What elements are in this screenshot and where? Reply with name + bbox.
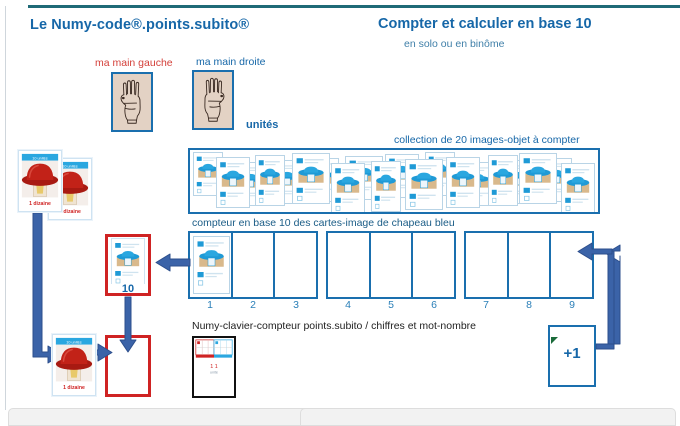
collection-label: collection de 20 images-objet à compter [394,134,580,146]
bottom-panel-right [300,408,676,426]
collection-item[interactable] [292,153,330,204]
svg-text:1 dizaine: 1 dizaine [29,201,51,207]
counter-number-2: 2 [250,299,256,311]
collection-item[interactable] [488,155,518,206]
collection-item[interactable] [331,163,365,214]
counter-label: compteur en base 10 des cartes-image de … [192,217,455,229]
collection-item[interactable] [405,159,443,210]
arrow-loop-stem [608,251,614,344]
counter-cell-8[interactable] [509,233,552,297]
counter-number-4: 4 [345,299,351,311]
dizaine-card[interactable]: 10 unités1 dizaine [52,334,96,396]
counter-number-1: 1 [207,299,213,311]
left-margin-line [5,6,6,410]
plus-one-label: +1 [548,345,596,362]
units-label: unités [246,119,278,131]
right-hand-card[interactable] [192,70,234,130]
blue-hat-card-icon [111,238,145,284]
blue-hat-card-icon [193,236,230,294]
counter-number-6: 6 [431,299,437,311]
arrow-loop-icon [596,245,620,349]
collection-item[interactable] [216,157,250,208]
green-corner-marker-icon [551,337,558,344]
svg-text:10 unités: 10 unités [32,156,48,160]
counter-number-9: 9 [569,299,575,311]
counter-row [188,231,578,299]
counter-group-1 [188,231,318,299]
empty-result-box[interactable] [105,335,151,397]
clavier-label: Numy-clavier-compteur points.subito / ch… [192,320,476,332]
svg-text:10 unités: 10 unités [66,340,82,344]
counter-cell-4[interactable] [328,233,371,297]
collection-strip[interactable] [188,148,600,214]
hand-outline-icon [113,74,151,130]
counter-number-8: 8 [526,299,532,311]
dizaine-card[interactable]: 10 unités1 dizaine [18,150,62,212]
numy-keyboard-card[interactable]: 1 1unité [192,336,236,398]
collection-item[interactable] [519,153,557,204]
counter-number-row: 1 2 3 4 5 6 7 8 9 [188,299,594,315]
counter-cell-2[interactable] [233,233,276,297]
counter-group-3 [464,231,594,299]
svg-text:1 dizaine: 1 dizaine [63,385,85,391]
page-title-right: Compter et calculer en base 10 [378,16,592,32]
counter-cell-1[interactable] [190,233,233,297]
collection-item[interactable] [255,155,285,206]
counter-group-2 [326,231,456,299]
top-rule-divider [28,5,680,8]
counter-cell-7[interactable] [466,233,509,297]
svg-text:1 1: 1 1 [210,364,218,370]
left-hand-card[interactable] [111,72,153,132]
ten-box-value: 10 [105,283,151,295]
hand-outline-icon [194,72,232,128]
counter-number-3: 3 [293,299,299,311]
worksheet-canvas: Le Numy-code®.points.subito® Compter et … [0,0,680,416]
left-hand-label: ma main gauche [95,57,173,69]
right-hand-label: ma main droite [196,56,265,68]
counter-cell-6[interactable] [413,233,454,297]
collection-item[interactable] [561,163,595,214]
counter-number-5: 5 [388,299,394,311]
counter-cell-5[interactable] [371,233,414,297]
svg-text:1 dizaine: 1 dizaine [59,209,81,215]
svg-text:10 unités: 10 unités [62,164,78,168]
collection-item[interactable] [371,161,401,212]
counter-number-7: 7 [483,299,489,311]
page-subtitle-right: en solo ou en binôme [404,38,504,50]
counter-cell-9[interactable] [551,233,592,297]
arrow-left-icon [156,254,190,271]
collection-item[interactable] [446,157,480,208]
svg-text:unité: unité [210,371,218,375]
page-title-left: Le Numy-code®.points.subito® [30,17,249,33]
counter-cell-3[interactable] [275,233,316,297]
